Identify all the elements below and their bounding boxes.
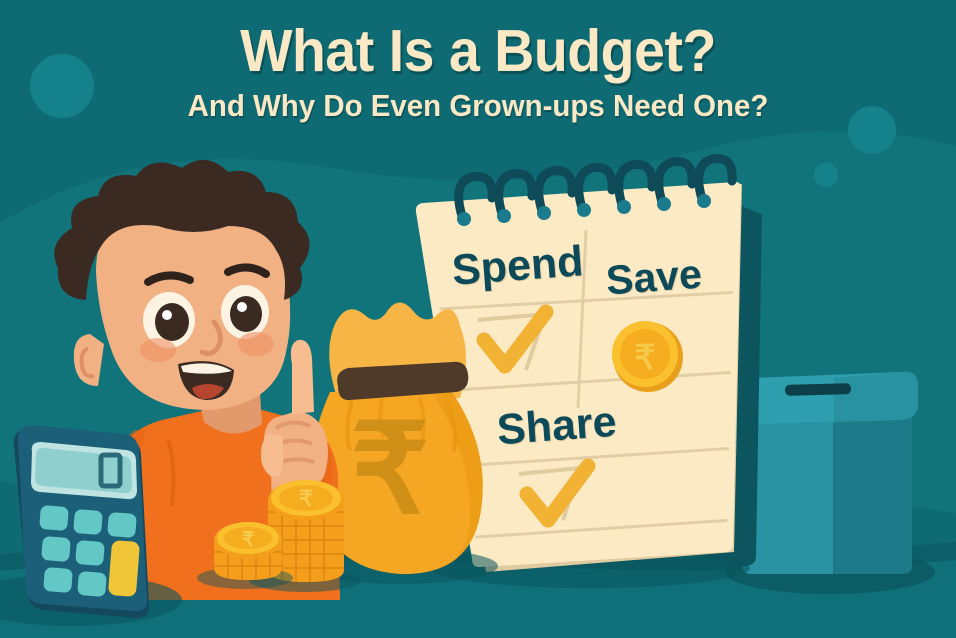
calculator-group[interactable]: [0, 425, 182, 626]
calc-key-3[interactable]: [107, 512, 137, 538]
calc-key-1[interactable]: [39, 505, 69, 531]
calc-key-7[interactable]: [77, 571, 107, 597]
calc-key-5[interactable]: [75, 540, 105, 566]
calculator-keypad[interactable]: [39, 505, 140, 597]
calculator[interactable]: [0, 0, 956, 638]
calc-key-6[interactable]: [43, 567, 73, 593]
calc-key-accent-equals[interactable]: [108, 540, 140, 597]
calc-key-4[interactable]: [41, 536, 71, 562]
poster-canvas: ₹ ₹: [0, 0, 956, 638]
calc-key-2[interactable]: [73, 509, 103, 535]
